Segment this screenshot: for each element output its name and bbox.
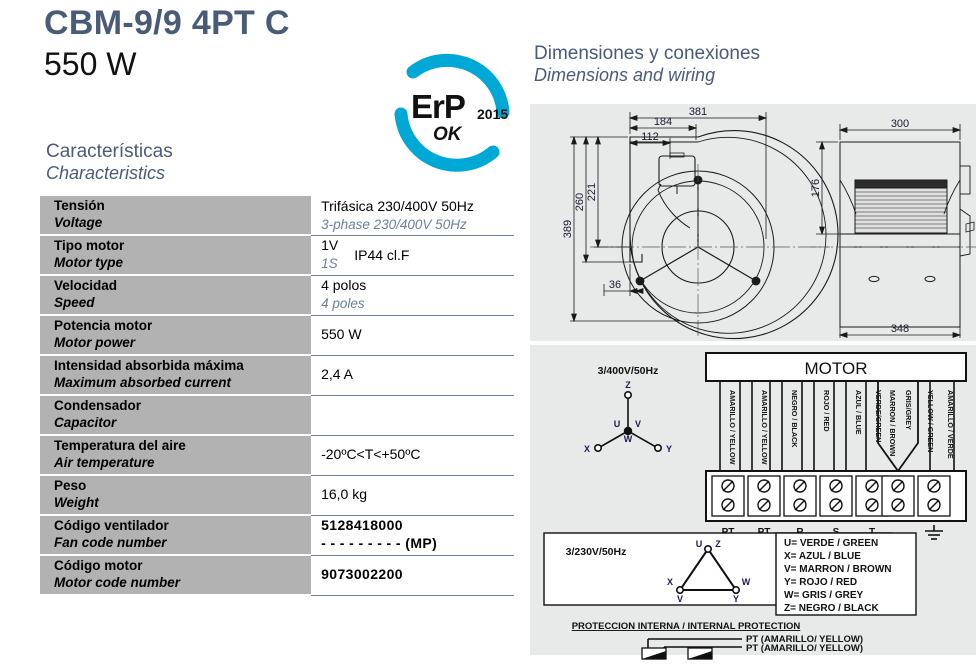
row-label-en: Capacitor: [54, 415, 311, 432]
row-value-mp: - - - - - - - - - (MP): [321, 535, 514, 553]
wire-label-3: ROJO / RED: [822, 390, 831, 432]
table-row: Tipo motor Motor type 1V 1S IP44 cl.F: [40, 235, 514, 275]
wire-label-5: VERDE/GREEN: [874, 390, 883, 442]
row-value: 9073002200: [311, 555, 514, 595]
row-label: Intensidad absorbida máxima Maximum abso…: [40, 355, 311, 395]
star-node-v: V: [635, 419, 641, 429]
row-value: Trifásica 230/400V 50Hz 3-phase 230/400V…: [311, 196, 514, 235]
dimensions-drawing: 381 184 112 389 260 221: [530, 104, 976, 341]
row-label-en: Voltage: [54, 215, 311, 232]
wire-label-1: AMARILLO / YELLOW: [760, 390, 769, 465]
dim-front-381: 381: [689, 106, 707, 118]
row-value: 550 W: [311, 315, 514, 355]
row-value-es: 1V: [321, 237, 338, 255]
table-row: Código motor Motor code number 907300220…: [40, 555, 514, 595]
page-title: CBM-9/9 4PT C: [44, 4, 290, 43]
row-label: Potencia motor Motor power: [40, 315, 311, 355]
row-label-es: Potencia motor: [54, 318, 311, 335]
power-rating-title: 550 W: [44, 46, 136, 83]
row-value-es: 16,0 kg: [321, 486, 514, 504]
row-label-es: Intensidad absorbida máxima: [54, 358, 311, 375]
row-label-es: Tipo motor: [54, 238, 311, 255]
row-label-es: Código motor: [54, 558, 311, 575]
table-row: Peso Weight 16,0 kg: [40, 475, 514, 515]
characteristics-heading-es: Características: [46, 140, 173, 163]
wiring-diagram-panel: 3/400V/50Hz Z U V W X Y MOTOR: [530, 345, 976, 655]
table-row: Intensidad absorbida máxima Maximum abso…: [40, 355, 514, 395]
row-label-en: Weight: [54, 495, 311, 512]
row-label-es: Tensión: [54, 198, 311, 215]
row-label-en: Air temperature: [54, 455, 311, 472]
delta-node-u: U: [696, 539, 703, 549]
legend-line-3: Y= ROJO / RED: [784, 577, 857, 588]
row-label-en: Motor code number: [54, 575, 311, 592]
star-node-u: U: [614, 419, 621, 429]
row-value: 5128418000 - - - - - - - - - (MP): [311, 515, 514, 555]
row-label: Temperatura del aire Air temperature: [40, 435, 311, 475]
row-label-es: Velocidad: [54, 278, 311, 295]
right-column: Dimensiones y conexiones Dimensions and …: [520, 0, 976, 665]
table-row: Condensador Capacitor: [40, 395, 514, 435]
row-label-en: Speed: [54, 295, 311, 312]
legend-line-4: W= GRIS / GREY: [784, 590, 864, 601]
row-value: 16,0 kg: [311, 475, 514, 515]
row-value-en: 3-phase 230/400V 50Hz: [321, 216, 514, 233]
row-label-es: Condensador: [54, 398, 311, 415]
wire-label-6: MARRON / BROWN: [888, 390, 897, 456]
dim-side-176: 176: [810, 179, 822, 197]
row-label: Condensador Capacitor: [40, 395, 311, 435]
delta-supply-label: 3/230V/50Hz: [566, 546, 627, 558]
row-value: [311, 395, 514, 435]
star-node-w: W: [624, 434, 633, 444]
row-label-en: Fan code number: [54, 535, 311, 552]
row-value: 1V 1S IP44 cl.F: [311, 235, 514, 275]
characteristics-table: Tensión Voltage Trifásica 230/400V 50Hz …: [40, 196, 514, 596]
delta-node-v: V: [677, 594, 683, 604]
row-value-es: 5128418000: [321, 517, 514, 535]
wire-label-7: GRIS/GREY: [904, 390, 913, 430]
wiring-diagram: 3/400V/50Hz Z U V W X Y MOTOR: [530, 345, 976, 655]
table-row: Tensión Voltage Trifásica 230/400V 50Hz …: [40, 196, 514, 235]
dim-side-300: 300: [891, 118, 909, 130]
dimensions-drawing-panel: 381 184 112 389 260 221: [530, 104, 976, 341]
protection-line-1: PT (AMARILLO/ YELLOW): [746, 643, 863, 654]
row-label-es: Peso: [54, 478, 311, 495]
row-value-es: Trifásica 230/400V 50Hz: [321, 198, 514, 216]
earth-ground-icon: [925, 525, 943, 539]
dimensions-heading-es: Dimensiones y conexiones: [534, 42, 760, 65]
row-value: 4 polos 4 poles: [311, 275, 514, 315]
row-label-es: Temperatura del aire: [54, 438, 311, 455]
row-value-es: -20ºC<T<+50ºC: [321, 446, 514, 464]
row-value-es: 550 W: [321, 326, 514, 344]
dim-front-221: 221: [586, 183, 598, 201]
row-value-en: 1S: [321, 255, 338, 272]
table-row: Temperatura del aire Air temperature -20…: [40, 435, 514, 475]
characteristics-heading: Características Characteristics: [46, 140, 173, 185]
wire-label-8: YELLOW / GREEN: [926, 390, 935, 452]
star-node-z: Z: [625, 380, 631, 390]
row-label: Código motor Motor code number: [40, 555, 311, 595]
row-label: Velocidad Speed: [40, 275, 311, 315]
legend-line-0: U= VERDE / GREEN: [784, 538, 878, 549]
star-node-x: X: [584, 444, 590, 454]
row-value-es: 4 polos: [321, 277, 514, 295]
row-value-en: 4 poles: [321, 295, 514, 312]
row-label-en: Maximum absorbed current: [54, 375, 311, 392]
motor-box-label: MOTOR: [805, 359, 868, 378]
row-label-en: Motor power: [54, 335, 311, 352]
delta-node-x: X: [667, 577, 673, 587]
dimensions-heading-en: Dimensions and wiring: [534, 65, 760, 87]
legend-line-1: X= AZUL / BLUE: [784, 551, 861, 562]
erp-text: ErP: [411, 88, 465, 126]
row-label: Peso Weight: [40, 475, 311, 515]
row-value: -20ºC<T<+50ºC: [311, 435, 514, 475]
dim-front-112: 112: [641, 131, 659, 143]
erp-logo: ErP 2015 OK: [383, 42, 523, 182]
legend-line-5: Z= NEGRO / BLACK: [784, 603, 880, 614]
dimensions-heading: Dimensiones y conexiones Dimensions and …: [534, 42, 760, 87]
dim-front-36: 36: [609, 279, 621, 291]
row-value-extra: IP44 cl.F: [354, 247, 409, 263]
table-row: Código ventilador Fan code number 512841…: [40, 515, 514, 555]
row-value-es: 2,4 A: [321, 366, 514, 384]
table-row: Velocidad Speed 4 polos 4 poles: [40, 275, 514, 315]
dim-side-348: 348: [891, 323, 909, 335]
star-node-y: Y: [666, 444, 672, 454]
star-supply-label: 3/400V/50Hz: [598, 365, 659, 377]
dim-front-184: 184: [654, 116, 672, 128]
row-value: 2,4 A: [311, 355, 514, 395]
row-label: Código ventilador Fan code number: [40, 515, 311, 555]
row-label: Tipo motor Motor type: [40, 235, 311, 275]
wire-label-4: AZUL / BLUE: [854, 390, 863, 435]
table-row: Potencia motor Motor power 550 W: [40, 315, 514, 355]
row-label-en: Motor type: [54, 255, 311, 272]
delta-node-y: Y: [733, 594, 739, 604]
characteristics-heading-en: Characteristics: [46, 163, 173, 185]
erp-ok: OK: [433, 124, 462, 146]
wire-label-0: AMARILLO / YELLOW: [728, 390, 737, 465]
row-value-es: 9073002200: [321, 566, 514, 584]
erp-year: 2015: [477, 106, 508, 122]
legend-line-2: V= MARRON / BROWN: [784, 564, 892, 575]
wire-label-9: AMARILLO / VERDE: [946, 390, 955, 459]
row-label: Tensión Voltage: [40, 196, 311, 235]
delta-node-w: W: [742, 577, 751, 587]
left-column: CBM-9/9 4PT C 550 W ErP 2015 OK Caracter…: [0, 0, 520, 665]
dim-front-260: 260: [574, 193, 586, 211]
delta-node-z: Z: [715, 539, 721, 549]
wire-label-2: NEGRO / BLACK: [790, 390, 799, 448]
row-label-es: Código ventilador: [54, 518, 311, 535]
protection-title: PROTECCION INTERNA / INTERNAL PROTECTION: [572, 621, 801, 632]
dim-front-389: 389: [562, 220, 574, 238]
